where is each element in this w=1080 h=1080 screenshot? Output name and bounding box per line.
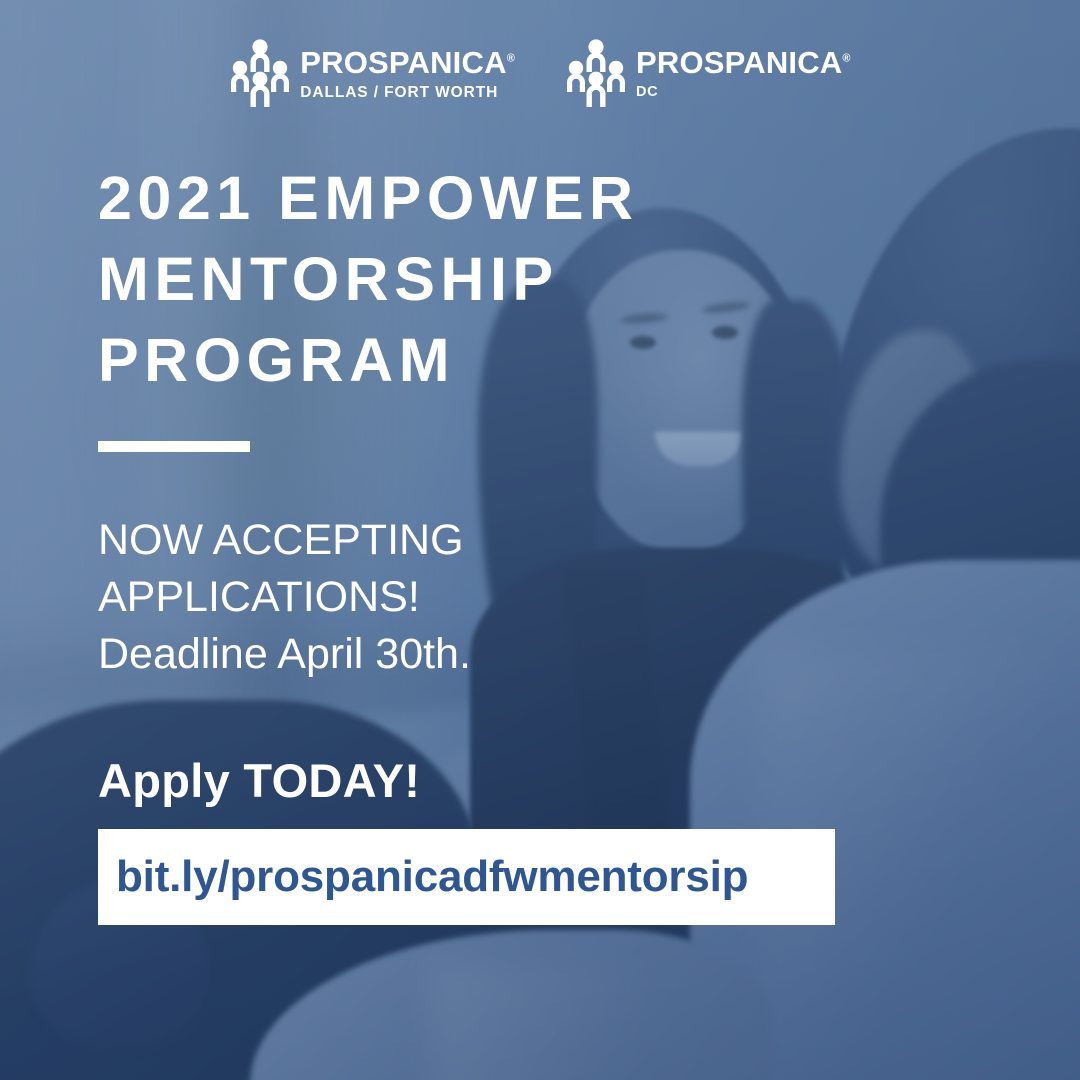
application-url[interactable]: bit.ly/prospanicadfwmentorsip xyxy=(98,855,748,899)
application-link-button[interactable]: bit.ly/prospanicadfwmentorsip xyxy=(98,829,835,925)
logo-row: PROSPANICA® DALLAS / FORT WORTH xyxy=(0,38,1080,108)
logo-text-block: PROSPANICA® DC xyxy=(636,38,851,100)
flyer-content: PROSPANICA® DALLAS / FORT WORTH xyxy=(0,0,1080,1080)
mentorship-program-flyer: PROSPANICA® DALLAS / FORT WORTH xyxy=(0,0,1080,1080)
announcement-line-1: NOW ACCEPTING APPLICATIONS! xyxy=(98,512,658,626)
logo-prospanica-dc: PROSPANICA® DC xyxy=(565,38,851,108)
wordmark-text: PROSPANICA xyxy=(300,45,506,80)
announcement-line-2: Deadline April 30th. xyxy=(98,630,471,678)
wordmark: PROSPANICA® xyxy=(636,47,851,78)
chapter-name: DC xyxy=(636,85,851,100)
wordmark-text: PROSPANICA xyxy=(636,45,842,80)
title-divider xyxy=(98,441,250,452)
chapter-name: DALLAS / FORT WORTH xyxy=(300,85,515,101)
wordmark: PROSPANICA® xyxy=(300,47,515,78)
registered-trademark-icon: ® xyxy=(507,53,515,65)
prospanica-people-mark-icon xyxy=(229,38,291,108)
announcement-text: NOW ACCEPTING APPLICATIONS! Deadline Apr… xyxy=(98,512,658,684)
page-title: 2021 EMPOWER MENTORSHIP PROGRAM xyxy=(98,158,738,401)
registered-trademark-icon: ® xyxy=(842,53,850,65)
logo-text-block: PROSPANICA® DALLAS / FORT WORTH xyxy=(300,38,515,101)
prospanica-people-mark-icon xyxy=(565,38,627,108)
call-to-action-label: Apply TODAY! xyxy=(98,757,420,804)
logo-prospanica-dfw: PROSPANICA® DALLAS / FORT WORTH xyxy=(229,38,515,108)
